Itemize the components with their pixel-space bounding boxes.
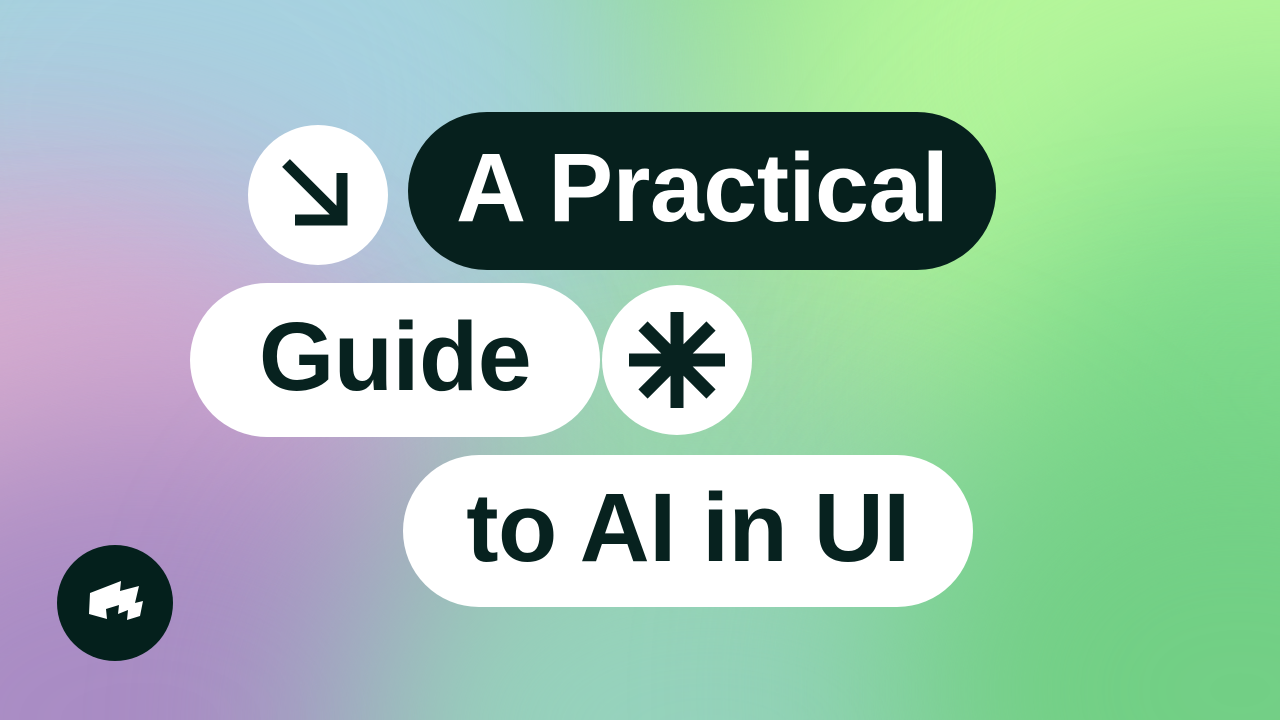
headline-row-1: A Practical [248, 112, 996, 270]
headline-pill-guide: Guide [190, 283, 600, 437]
headline-row-2: Guide [190, 283, 752, 437]
lightning-bolt-logo-icon [77, 563, 153, 644]
headline-row-3: to AI in UI [403, 455, 973, 607]
arrow-down-right-icon [248, 125, 388, 265]
asterisk-icon [602, 285, 752, 435]
headline-pill-to-ai-in-ui: to AI in UI [403, 455, 973, 607]
headline-pill-a-practical: A Practical [408, 112, 996, 270]
brand-logo[interactable] [57, 545, 173, 661]
poster-headline: A Practical Guide to AI in UI [0, 0, 1280, 720]
